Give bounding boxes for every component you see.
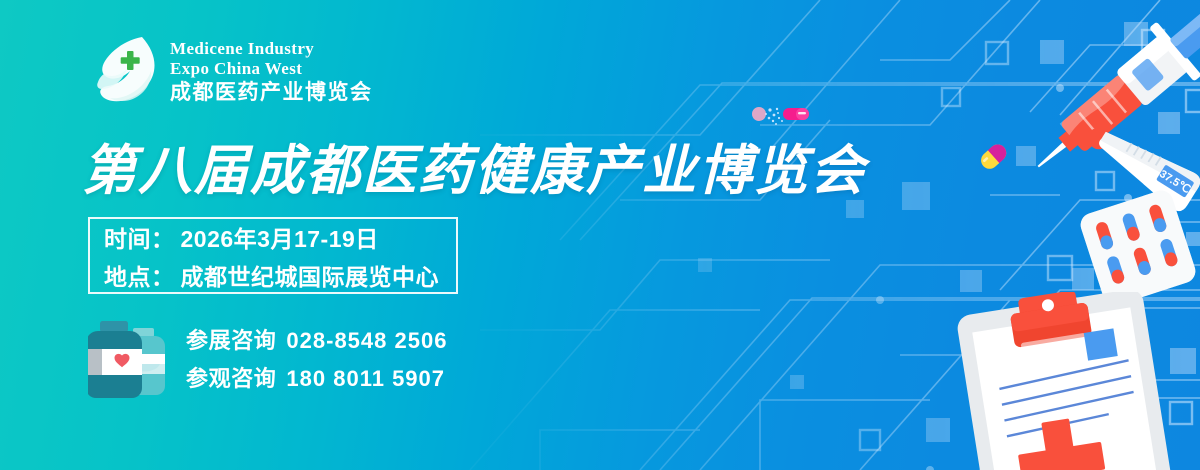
- venue-value: 成都世纪城国际展览中心: [181, 258, 440, 292]
- medicine-bottles-icon: [88, 316, 170, 400]
- logo-english-line2: Expo China West: [170, 60, 373, 77]
- visitor-label: 参观咨询: [186, 366, 276, 391]
- ribbon-cross-logo-icon: [96, 34, 158, 108]
- date-value: 2026年3月17-19日: [181, 220, 379, 254]
- logo-chinese-name: 成都医药产业博览会: [170, 82, 373, 103]
- medical-clipboard-icon: [954, 292, 1184, 470]
- digital-thermometer-icon: 37.5℃: [1076, 108, 1200, 228]
- visitor-phone: 180 8011 5907: [286, 366, 445, 391]
- logo-english-line1: Medicene Industry: [170, 40, 373, 57]
- info-row-venue: 地点： 成都世纪城国际展览中心: [104, 258, 456, 292]
- exhibitor-label: 参展咨询: [186, 328, 276, 353]
- info-row-date: 时间： 2026年3月17-19日: [104, 220, 456, 254]
- contact-row-exhibitor: 参展咨询028-8548 2506: [186, 323, 447, 355]
- event-info-box: 时间： 2026年3月17-19日 地点： 成都世纪城国际展览中心: [88, 217, 458, 294]
- contact-block: 参展咨询028-8548 2506 参观咨询180 8011 5907: [88, 316, 447, 400]
- venue-label: 地点：: [104, 258, 175, 292]
- expo-banner: Medicene Industry Expo China West 成都医药产业…: [0, 0, 1200, 470]
- date-label: 时间：: [104, 220, 175, 254]
- event-logo: Medicene Industry Expo China West 成都医药产业…: [96, 34, 373, 108]
- page-title: 第八届成都医药健康产业博览会: [82, 126, 866, 205]
- thermometer-reading: 37.5℃: [1157, 168, 1192, 196]
- contact-row-visitor: 参观咨询180 8011 5907: [186, 361, 447, 393]
- exhibitor-phone: 028-8548 2506: [286, 328, 447, 353]
- capsule-pill-icon: [974, 136, 1014, 178]
- pill-blister-pack-icon: [1078, 186, 1198, 311]
- syringe-icon: [1010, 14, 1200, 204]
